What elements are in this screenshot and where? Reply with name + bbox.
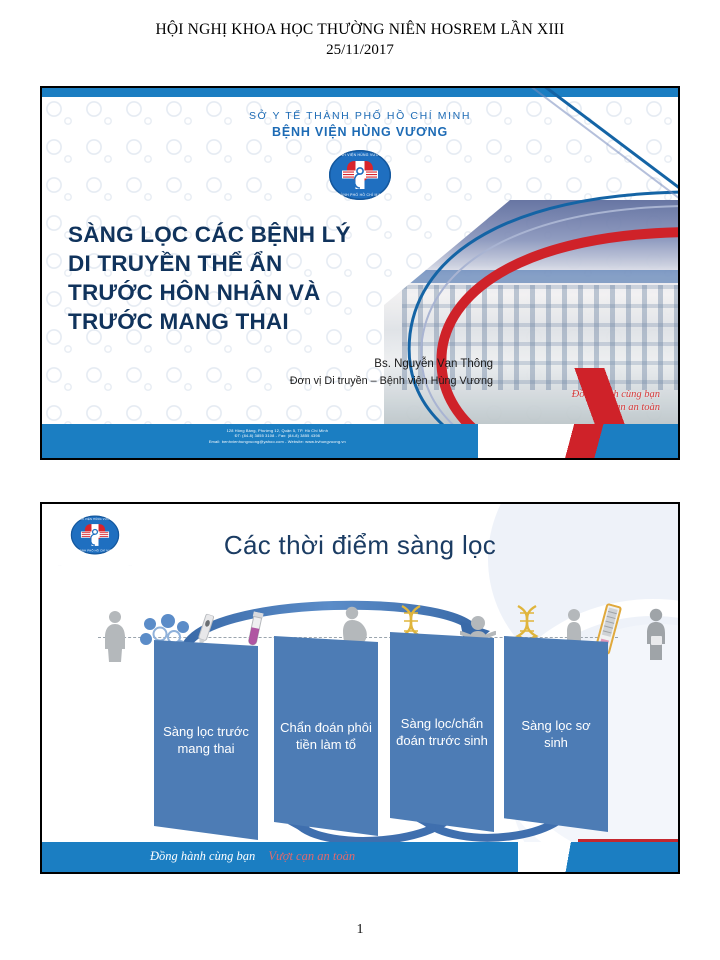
document-header: HỘI NGHỊ KHOA HỌC THƯỜNG NIÊN HOSREM LẦN… bbox=[0, 20, 720, 60]
stage-panel-3[interactable]: Sàng lọc/chẩn đoán trước sinh bbox=[390, 632, 494, 832]
footer-white-wedge bbox=[518, 842, 678, 872]
title-line-4: TRƯỚC MANG THAI bbox=[68, 307, 488, 336]
stage-panel-4-label: Sàng lọc sơ sinh bbox=[510, 717, 602, 752]
organization-heading: SỞ Y TẾ THÀNH PHỐ HỒ CHÍ MINH BỆNH VIỆN … bbox=[42, 110, 678, 139]
slide-2-content: BỆNH VIỆN HÙNG VƯƠNG THÀNH PHỐ HỒ CHÍ MI… bbox=[42, 504, 678, 872]
slide-1[interactable]: SỞ Y TẾ THÀNH PHỐ HỒ CHÍ MINH BỆNH VIỆN … bbox=[40, 86, 680, 460]
page-number: 1 bbox=[0, 922, 720, 938]
logo-ring-text-top: BỆNH VIỆN HÙNG VƯƠNG bbox=[329, 153, 391, 157]
hospital-logo: BỆNH VIỆN HÙNG VƯƠNG THÀNH PHỐ HỒ CHÍ MI… bbox=[329, 150, 391, 200]
title-line-1: SÀNG LỌC CÁC BỆNH LÝ bbox=[68, 220, 488, 249]
stage-panel-1-label: Sàng lọc trước mang thai bbox=[160, 723, 252, 758]
stage-panel-4[interactable]: Sàng lọc sơ sinh bbox=[504, 636, 608, 832]
header-conference-title: HỘI NGHỊ KHOA HỌC THƯỜNG NIÊN HOSREM LẦN… bbox=[0, 20, 720, 40]
footer-tagline-red: Vượt cạn an toàn bbox=[268, 849, 355, 863]
stage-panel-1[interactable]: Sàng lọc trước mang thai bbox=[154, 640, 258, 840]
stage-panel-2-label: Chẩn đoán phôi tiền làm tổ bbox=[280, 719, 372, 754]
slide-1-tagline: Đồng hành cùng bạn Vượt cạn an toàn bbox=[572, 388, 660, 414]
stage-panel-3-label: Sàng lọc/chẩn đoán trước sinh bbox=[396, 715, 488, 750]
author-affiliation: Đơn vị Di truyền – Bệnh viện Hùng Vương bbox=[290, 373, 493, 390]
hospital-address-block: 128 Hồng Bàng, Phường 12, Quận 5, TP. Hồ… bbox=[42, 428, 513, 444]
slide-2-footer-bar: Đồng hành cùng bạn Vượt cạn an toàn bbox=[42, 842, 678, 872]
document-page: HỘI NGHỊ KHOA HỌC THƯỜNG NIÊN HOSREM LẦN… bbox=[0, 0, 720, 960]
slide-2-footer-tagline: Đồng hành cùng bạn Vượt cạn an toàn bbox=[150, 849, 355, 864]
logo-cross-heart-icon bbox=[338, 160, 382, 190]
tagline-line-1: Đồng hành cùng bạn bbox=[572, 388, 660, 401]
logo-ring-text-top: BỆNH VIỆN HÙNG VƯƠNG bbox=[71, 518, 119, 521]
presentation-title: SÀNG LỌC CÁC BỆNH LÝ DI TRUYỀN THỂ ẨN TR… bbox=[68, 220, 488, 336]
title-line-2: DI TRUYỀN THỂ ẨN bbox=[68, 249, 488, 278]
department-name: SỞ Y TẾ THÀNH PHỐ HỒ CHÍ MINH bbox=[42, 110, 678, 122]
tagline-line-2: Vượt cạn an toàn bbox=[572, 401, 660, 414]
slide-1-content: SỞ Y TẾ THÀNH PHỐ HỒ CHÍ MINH BỆNH VIỆN … bbox=[42, 88, 678, 458]
hospital-name: BỆNH VIỆN HÙNG VƯƠNG bbox=[42, 125, 678, 139]
slide-2-title: Các thời điểm sàng lọc bbox=[42, 530, 678, 561]
logo-badge: BỆNH VIỆN HÙNG VƯƠNG THÀNH PHỐ HỒ CHÍ MI… bbox=[329, 150, 391, 200]
slide-2[interactable]: BỆNH VIỆN HÙNG VƯƠNG THÀNH PHỐ HỒ CHÍ MI… bbox=[40, 502, 680, 874]
header-date: 25/11/2017 bbox=[0, 40, 720, 60]
address-email: Email: benhvienhungvuong@yahoo.com - Web… bbox=[42, 439, 513, 444]
woman-figure-icon bbox=[102, 610, 128, 662]
stage-panel-2[interactable]: Chẩn đoán phôi tiền làm tổ bbox=[274, 636, 378, 836]
footer-tagline-white: Đồng hành cùng bạn bbox=[150, 849, 255, 863]
slide-1-top-blue-bar bbox=[42, 88, 678, 97]
author-block: Bs. Nguyễn Vạn Thông Đơn vị Di truyền – … bbox=[290, 356, 493, 390]
author-name: Bs. Nguyễn Vạn Thông bbox=[290, 356, 493, 373]
slide-1-footer-bar: 128 Hồng Bàng, Phường 12, Quận 5, TP. Hồ… bbox=[42, 424, 678, 458]
title-line-3: TRƯỚC HÔN NHÂN VÀ bbox=[68, 278, 488, 307]
adult-figure-icon bbox=[642, 608, 670, 660]
logo-ring-text-bottom: THÀNH PHỐ HỒ CHÍ MINH bbox=[329, 193, 391, 197]
